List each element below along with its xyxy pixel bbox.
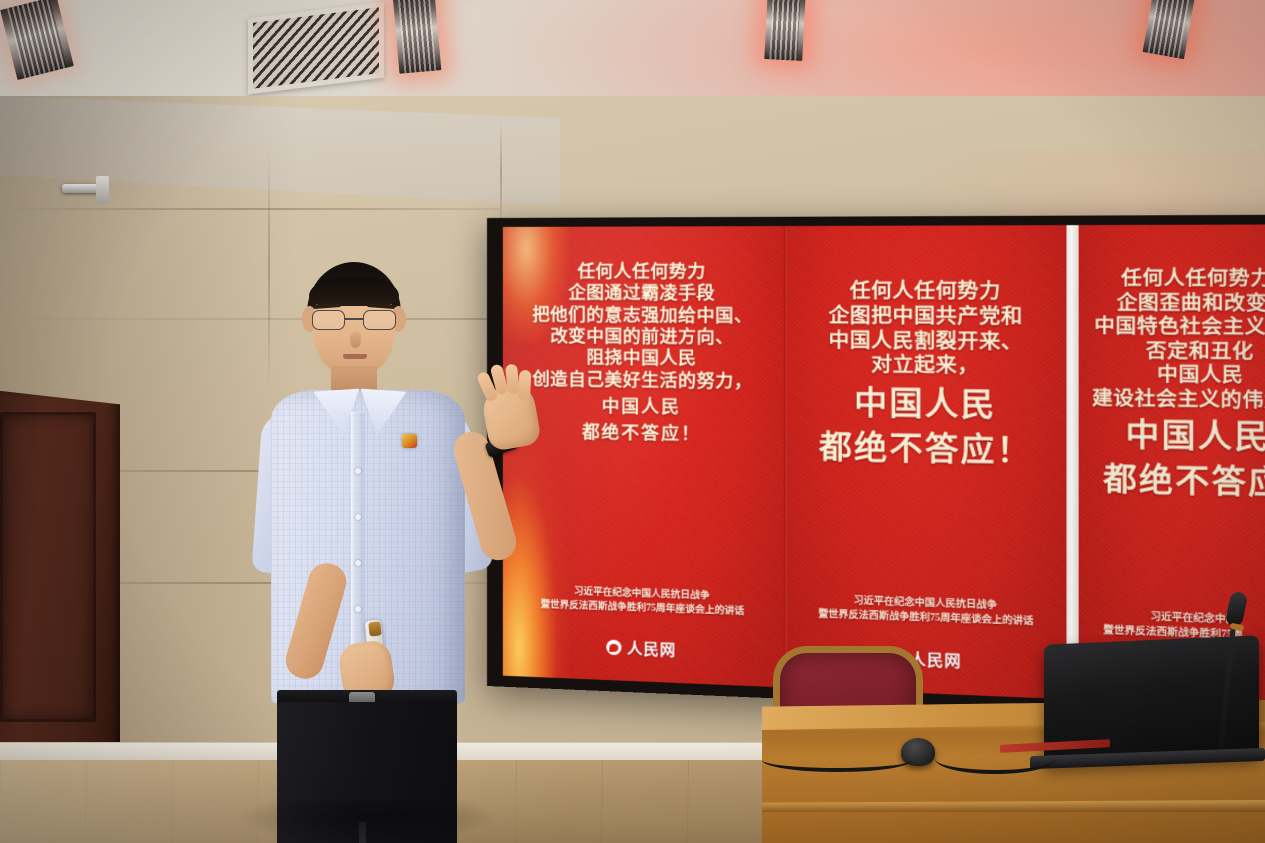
slide-emphasis-line: 中国人民 (854, 384, 996, 425)
ceiling-light-fixture (764, 0, 806, 61)
slide-line: 把他们的意志强加给中国、 (532, 304, 753, 327)
slide-line: 否定和丑化 (1146, 340, 1254, 365)
mouth (343, 354, 367, 359)
door[interactable] (0, 390, 120, 750)
slide-line: 企图把中国共产党和 (828, 304, 1022, 330)
eyeglasses-icon (311, 310, 398, 330)
raised-hand (480, 382, 542, 452)
slide-line: 任何人任何势力 (1121, 268, 1265, 292)
slide-line: 中国人民 (1157, 364, 1243, 389)
slide-line: 建设社会主义的伟大 (1092, 387, 1265, 414)
photo-scene: 任何人任何势力 企图通过霸凌手段 把他们的意志强加给中国、 改变中国的前进方向、… (0, 0, 1265, 843)
shirt-button (355, 468, 361, 474)
slide-emphasis-line: 中国人民 (1126, 417, 1265, 459)
slide-emphasis-line: 都绝不答应！ (819, 427, 1033, 470)
peoples-daily-mark-icon (607, 640, 622, 656)
presenter-floor-shadow (238, 800, 498, 843)
door-panel (0, 412, 96, 722)
cable (935, 744, 1055, 774)
slide-line: 对立起来， (871, 354, 979, 380)
slide-panel-2: 任何人任何势力 企图把中国共产党和 中国人民割裂开来、 对立起来， 中国人民 都… (787, 225, 1067, 699)
slide-line: 改变中国的前进方向、 (550, 325, 734, 348)
slide-emphasis-line: 都绝不答应！ (582, 422, 701, 446)
slide-line: 中国特色社会主义道 (1094, 315, 1265, 340)
party-emblem-pin-icon (402, 434, 417, 448)
slide-line: 企图歪曲和改变 (1117, 292, 1265, 317)
presenter-clicker-tip (368, 621, 381, 636)
slide-line: 任何人任何势力 (850, 280, 1001, 305)
eyeglass-lens (312, 310, 345, 330)
nose (350, 332, 361, 348)
panel-divider (1067, 225, 1079, 700)
ceiling-light-fixture (393, 0, 442, 74)
shirt-button (355, 514, 361, 520)
door-lock[interactable] (96, 176, 109, 204)
wall-seam (500, 120, 502, 230)
peoples-daily-logo-text: 人民网 (627, 637, 676, 660)
slide-line: 阻挠中国人民 (586, 347, 696, 370)
shirt-button (355, 560, 361, 566)
slide-line: 中国人民割裂开来、 (828, 329, 1022, 355)
eyeglass-bridge (345, 318, 363, 320)
slide-emphasis-line: 中国人民 (602, 396, 682, 419)
slide-line: 企图通过霸凌手段 (568, 283, 715, 305)
finger (518, 370, 532, 401)
screen-display-area: 任何人任何势力 企图通过霸凌手段 把他们的意志强加给中国、 改变中国的前进方向、… (503, 224, 1265, 710)
slide-emphasis-line: 都绝不答应 (1103, 461, 1265, 504)
cable (762, 748, 912, 772)
presenter (255, 262, 555, 843)
shirt-button (355, 606, 361, 612)
slide-line: 创造自己美好生活的努力， (532, 368, 753, 392)
slide-line: 任何人任何势力 (577, 261, 706, 283)
hair-fringe (309, 278, 399, 306)
eyeglass-lens (363, 310, 396, 330)
